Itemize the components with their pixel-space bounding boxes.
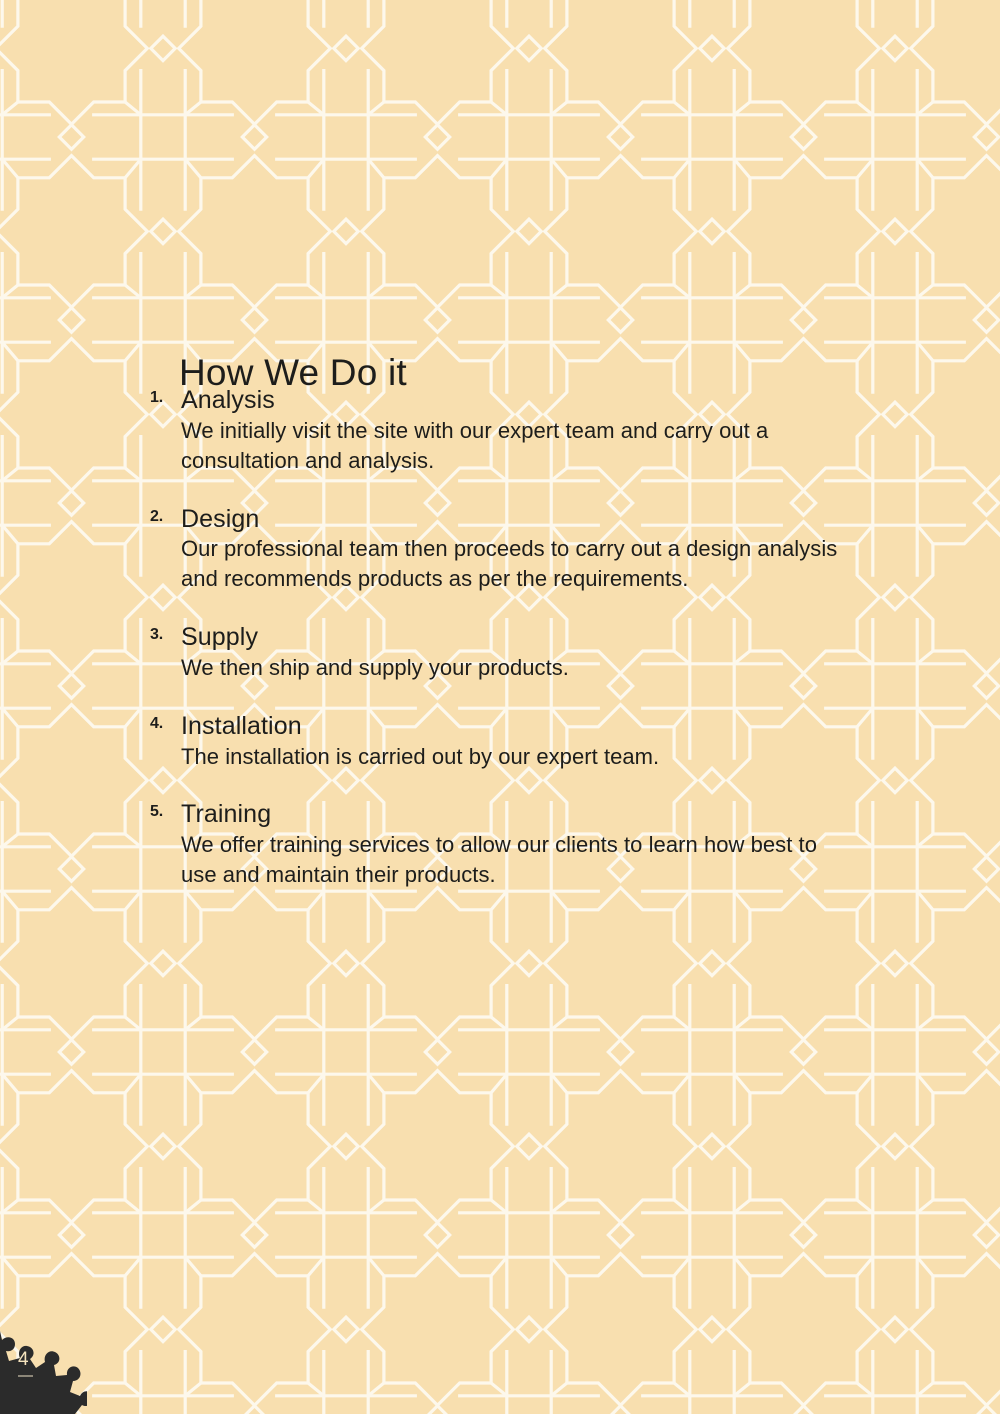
step-number: 5.: [150, 804, 163, 820]
document-page: How We Do it 1. Analysis We initially vi…: [0, 0, 1000, 1414]
step-heading: Training: [181, 800, 850, 829]
page-number-badge: [0, 1331, 87, 1414]
list-item: 4. Installation The installation is carr…: [150, 712, 850, 772]
page-number-rule: [18, 1375, 33, 1377]
list-item: 5. Training We offer training services t…: [150, 800, 850, 890]
process-steps-list: 1. Analysis We initially visit the site …: [150, 386, 850, 919]
list-item: 2. Design Our professional team then pro…: [150, 505, 850, 595]
step-number: 4.: [150, 716, 163, 732]
step-heading: Analysis: [181, 386, 850, 415]
step-number: 2.: [150, 509, 163, 525]
step-body: Our professional team then proceeds to c…: [181, 534, 850, 594]
step-number: 1.: [150, 390, 163, 406]
list-item: 3. Supply We then ship and supply your p…: [150, 623, 850, 683]
step-heading: Design: [181, 505, 850, 534]
step-body: The installation is carried out by our e…: [181, 742, 850, 772]
step-body: We offer training services to allow our …: [181, 830, 850, 890]
step-body: We then ship and supply your products.: [181, 653, 850, 683]
step-body: We initially visit the site with our exp…: [181, 416, 850, 476]
page-number: 4: [18, 1350, 29, 1369]
step-number: 3.: [150, 627, 163, 643]
step-heading: Installation: [181, 712, 850, 741]
step-heading: Supply: [181, 623, 850, 652]
page-content: How We Do it 1. Analysis We initially vi…: [0, 0, 1000, 1414]
list-item: 1. Analysis We initially visit the site …: [150, 386, 850, 476]
